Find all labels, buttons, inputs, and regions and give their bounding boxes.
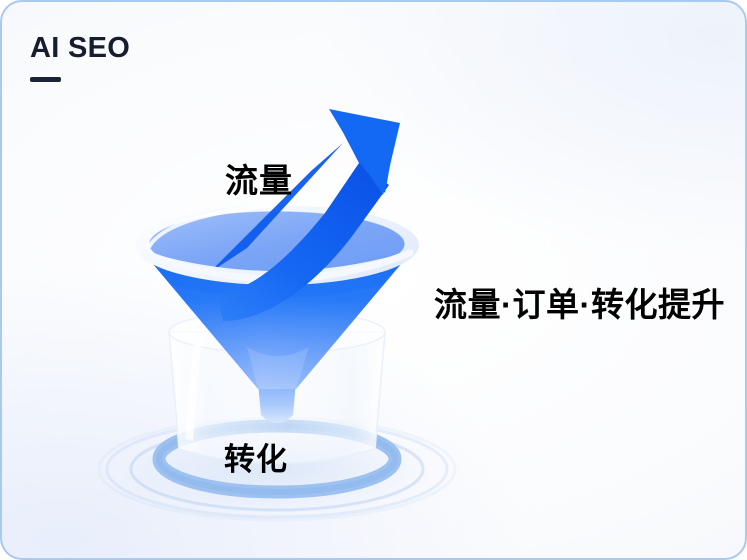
label-conversion: 转化 bbox=[224, 434, 288, 479]
brand-title-block: AI SEO bbox=[30, 34, 130, 82]
title-underline-rule bbox=[30, 77, 61, 82]
label-traffic: 流量 bbox=[225, 154, 293, 202]
headline-text: 流量·订单·转化提升 bbox=[434, 278, 725, 326]
poster-canvas: AI SEO 流量·订单·转化提升 bbox=[0, 0, 747, 560]
page-title: AI SEO bbox=[30, 34, 130, 63]
